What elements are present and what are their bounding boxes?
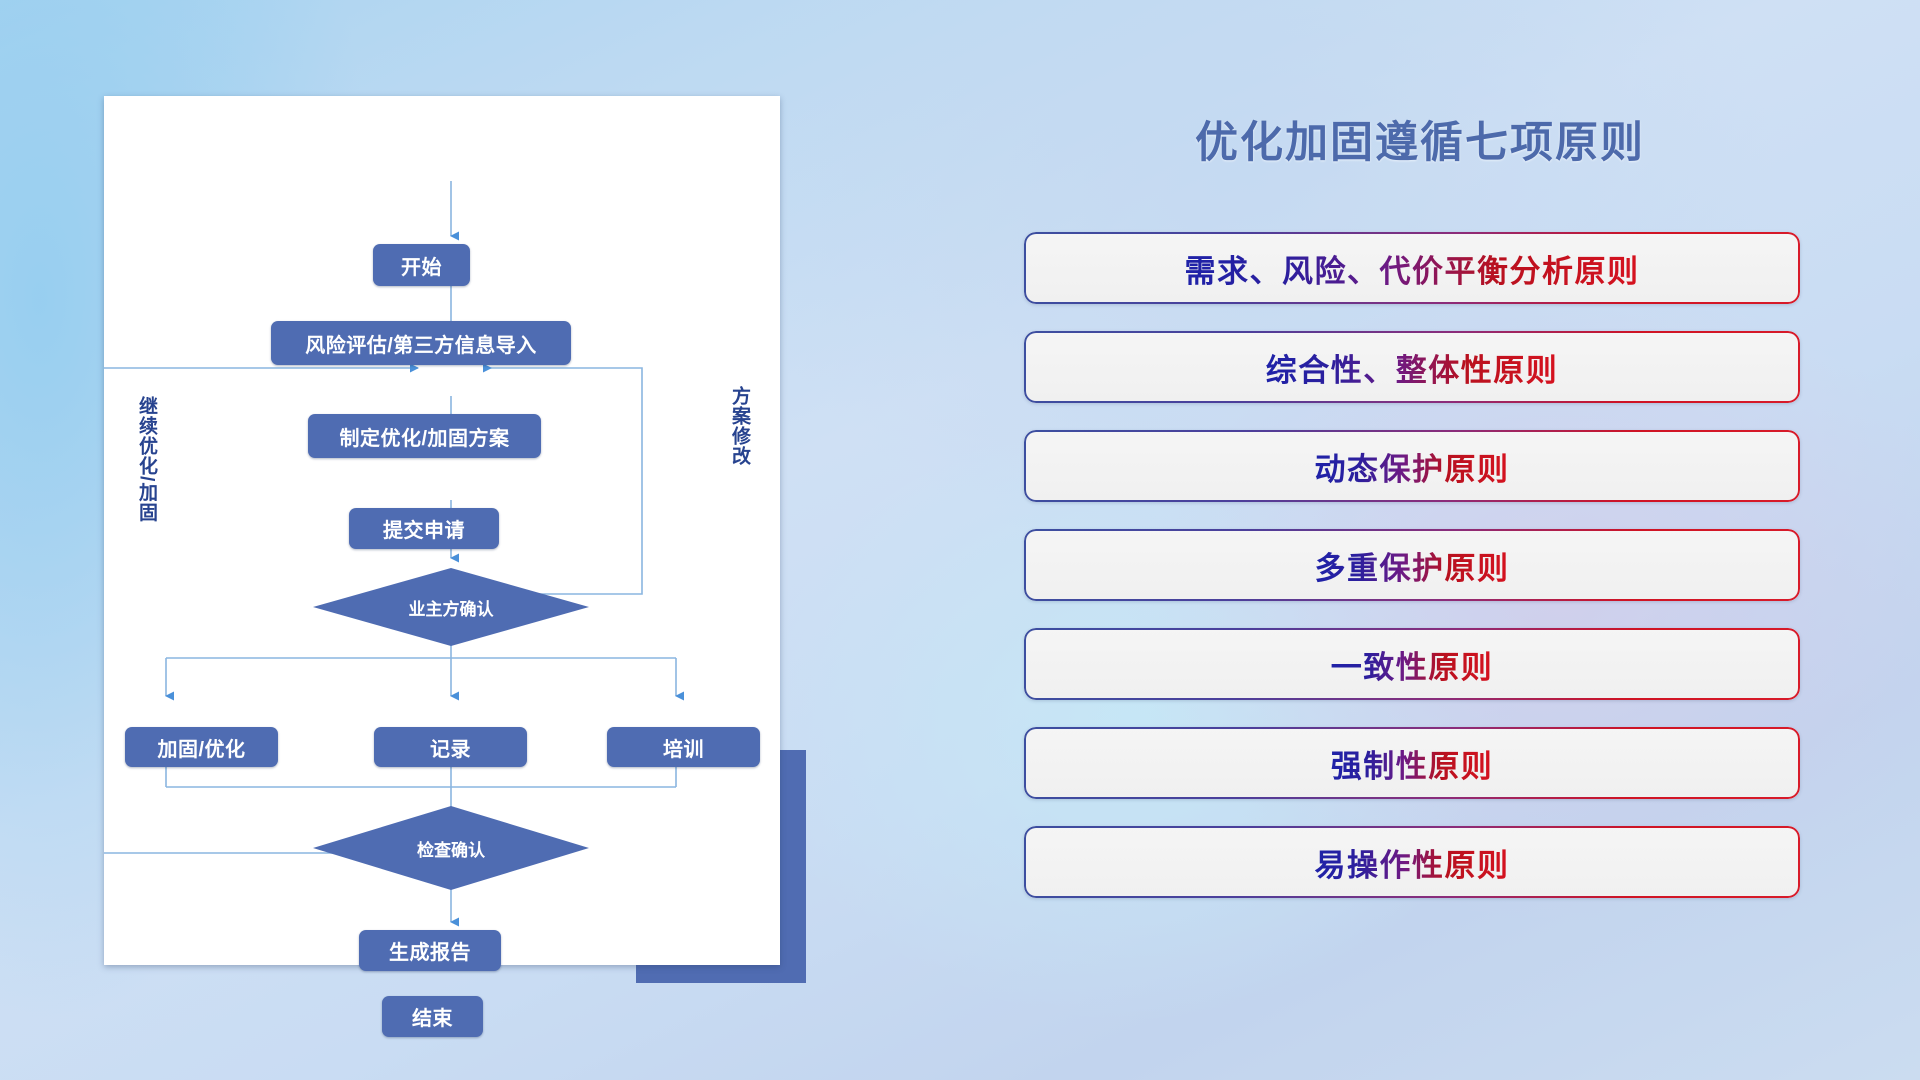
flow-edge-label-continue-optimize: 继续优化/加固	[136, 396, 156, 522]
principle-card[interactable]: 动态保护原则	[1024, 430, 1800, 502]
flow-node-label: 业主方确认	[409, 595, 494, 620]
flow-node-label: 检查确认	[417, 836, 485, 861]
flow-node-label: 加固/优化	[157, 733, 245, 762]
principle-label: 多重保护原则	[1315, 543, 1510, 588]
principles-list: 需求、风险、代价平衡分析原则 综合性、整体性原则 动态保护原则 多重保护原则 一…	[1024, 232, 1800, 925]
flow-node-label: 提交申请	[383, 514, 465, 543]
flow-node-end[interactable]: 结束	[382, 996, 483, 1037]
flow-node-label: 风险评估/第三方信息导入	[305, 329, 537, 358]
flow-node-make-plan[interactable]: 制定优化/加固方案	[308, 414, 541, 458]
page-title: 优化加固遵循七项原则	[1020, 108, 1820, 170]
principle-card[interactable]: 强制性原则	[1024, 727, 1800, 799]
flow-node-risk-assessment[interactable]: 风险评估/第三方信息导入	[271, 321, 571, 365]
flow-edge-label-plan-revision: 方案修改	[729, 386, 749, 466]
principle-card[interactable]: 一致性原则	[1024, 628, 1800, 700]
flow-node-label: 生成报告	[389, 936, 471, 965]
flow-node-label: 制定优化/加固方案	[339, 422, 509, 451]
flow-node-generate-report[interactable]: 生成报告	[359, 930, 501, 971]
flow-node-check-confirm[interactable]: 检查确认	[313, 806, 589, 890]
principle-label: 综合性、整体性原则	[1266, 345, 1559, 390]
principle-label: 易操作性原则	[1315, 840, 1510, 885]
flow-node-record[interactable]: 记录	[374, 727, 527, 767]
flow-node-start[interactable]: 开始	[373, 244, 470, 286]
principle-label: 动态保护原则	[1315, 444, 1510, 489]
flow-node-reinforce-optimize[interactable]: 加固/优化	[125, 727, 278, 767]
flow-node-training[interactable]: 培训	[607, 727, 760, 767]
flow-node-submit-application[interactable]: 提交申请	[349, 508, 499, 549]
flow-node-owner-confirm[interactable]: 业主方确认	[313, 568, 589, 646]
principle-card[interactable]: 多重保护原则	[1024, 529, 1800, 601]
principle-label: 一致性原则	[1331, 642, 1494, 687]
slide-root: 开始 风险评估/第三方信息导入 制定优化/加固方案 提交申请 业主方确认 加固/…	[0, 0, 1920, 1080]
flow-node-label: 结束	[412, 1002, 453, 1031]
flow-node-label: 开始	[401, 251, 442, 280]
flow-node-label: 培训	[663, 733, 704, 762]
principle-card[interactable]: 需求、风险、代价平衡分析原则	[1024, 232, 1800, 304]
flow-node-label: 记录	[430, 733, 471, 762]
flowchart-card: 开始 风险评估/第三方信息导入 制定优化/加固方案 提交申请 业主方确认 加固/…	[104, 96, 780, 965]
principle-card[interactable]: 易操作性原则	[1024, 826, 1800, 898]
principle-card[interactable]: 综合性、整体性原则	[1024, 331, 1800, 403]
principle-label: 需求、风险、代价平衡分析原则	[1185, 246, 1640, 291]
principle-label: 强制性原则	[1331, 741, 1494, 786]
